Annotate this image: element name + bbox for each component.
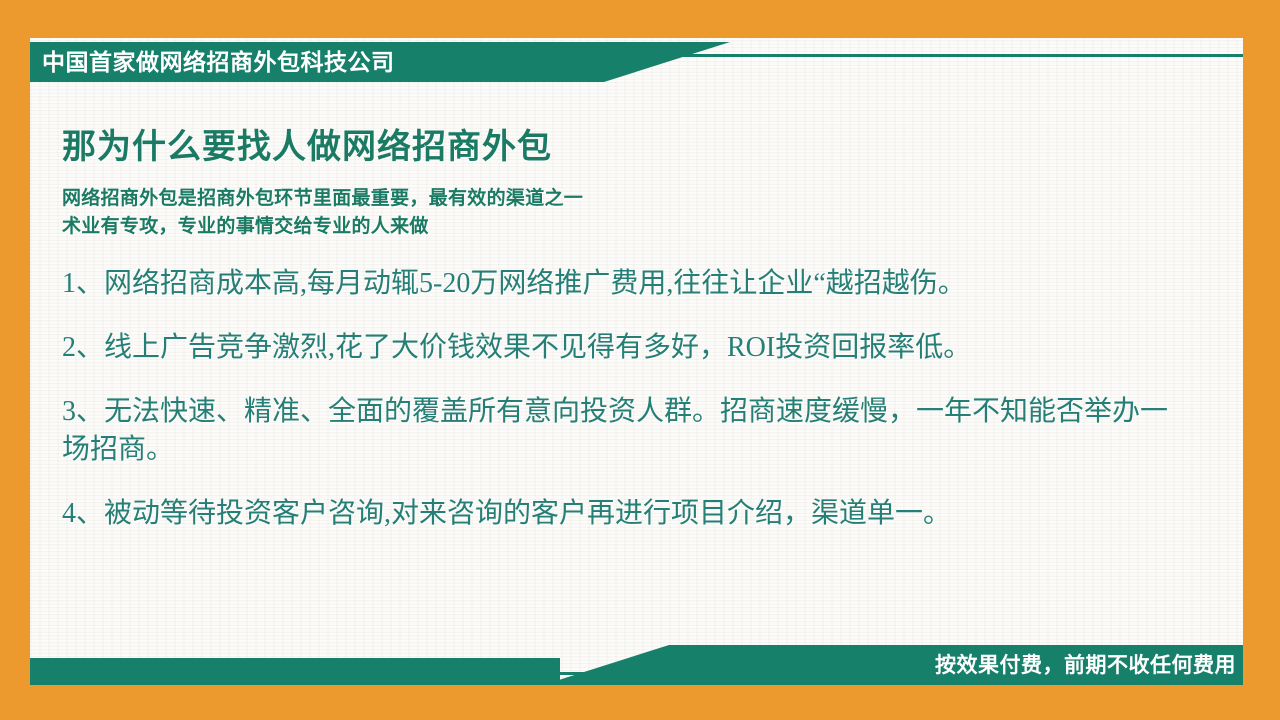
list-item: 2、线上广告竞争激烈,花了大价钱效果不见得有多好，ROI投资回报率低。 — [62, 329, 1192, 367]
points-list: 1、网络招商成本高,每月动辄5-20万网络推广费用,往往让企业“越招越伤。 2、… — [62, 265, 1192, 533]
list-item: 3、无法快速、精准、全面的覆盖所有意向投资人群。招商速度缓慢，一年不知能否举办一… — [62, 393, 1192, 469]
footer-tagline: 按效果付费，前期不收任何费用 — [935, 650, 1236, 682]
page-title: 那为什么要找人做网络招商外包 — [62, 125, 1192, 169]
subtitle-line-2: 术业有专攻，专业的事情交给专业的人来做 — [62, 213, 1192, 241]
subtitle-line-1: 网络招商外包是招商外包环节里面最重要，最有效的渠道之一 — [62, 185, 1192, 213]
subtitle-block: 网络招商外包是招商外包环节里面最重要，最有效的渠道之一 术业有专攻，专业的事情交… — [62, 185, 1192, 241]
footer-divider-line — [30, 672, 746, 675]
slide-content: 那为什么要找人做网络招商外包 网络招商外包是招商外包环节里面最重要，最有效的渠道… — [62, 125, 1192, 533]
list-item: 1、网络招商成本高,每月动辄5-20万网络推广费用,往往让企业“越招越伤。 — [62, 265, 1192, 303]
list-item: 4、被动等待投资客户咨询,对来咨询的客户再进行项目介绍，渠道单一。 — [62, 495, 1192, 533]
header-divider-line — [545, 54, 1243, 57]
header-badge-label: 中国首家做网络招商外包科技公司 — [42, 45, 395, 79]
slide-root: 中国首家做网络招商外包科技公司 那为什么要找人做网络招商外包 网络招商外包是招商… — [0, 0, 1280, 720]
